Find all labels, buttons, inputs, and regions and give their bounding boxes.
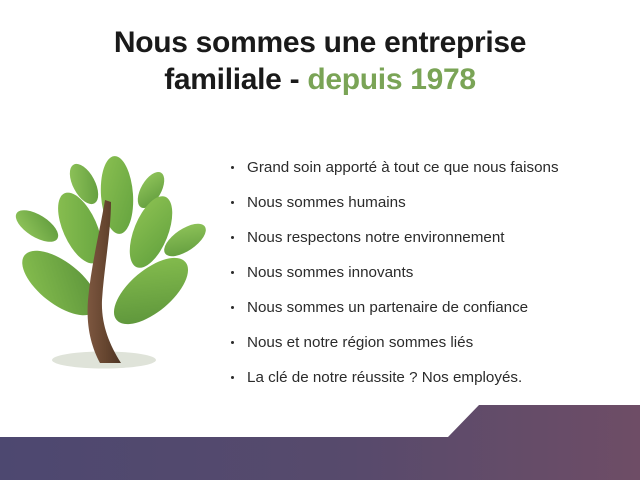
bullet-dot-icon <box>231 376 234 379</box>
list-item: La clé de notre réussite ? Nos employés. <box>228 360 628 395</box>
list-item: Nous sommes humains <box>228 185 628 220</box>
tree-illustration <box>8 148 218 390</box>
page-title: Nous sommes une entreprise familiale - d… <box>0 26 640 98</box>
list-item: Grand soin apporté à tout ce que nous fa… <box>228 150 628 185</box>
footer-bar: tabor-automobiles.fr <box>0 398 640 480</box>
title-accent: depuis 1978 <box>307 63 475 96</box>
bullet-dot-icon <box>231 341 234 344</box>
list-item: Nous sommes innovants <box>228 255 628 290</box>
list-item: Nous respectons notre environnement <box>228 220 628 255</box>
bullet-dot-icon <box>231 271 234 274</box>
list-item-label: La clé de notre réussite ? Nos employés. <box>247 369 522 386</box>
bullet-dot-icon <box>231 306 234 309</box>
tree-leaves <box>11 155 211 336</box>
list-item-label: Nous respectons notre environnement <box>247 229 505 246</box>
title-dash: - <box>282 63 308 96</box>
list-item-label: Nous sommes innovants <box>247 264 413 281</box>
tree-illustration-svg <box>8 148 218 390</box>
bullet-dot-icon <box>231 166 234 169</box>
bullet-dot-icon <box>231 201 234 204</box>
title-line-1: Nous sommes une entreprise <box>0 26 640 61</box>
title-line-2: familiale - depuis 1978 <box>0 63 640 98</box>
value-bullet-list: Grand soin apporté à tout ce que nous fa… <box>228 150 628 395</box>
list-item-label: Nous et notre région sommes liés <box>247 334 473 351</box>
list-item-label: Grand soin apporté à tout ce que nous fa… <box>247 159 559 176</box>
title-line-2-prefix: familiale <box>164 63 281 96</box>
list-item-label: Nous sommes humains <box>247 194 406 211</box>
list-item: Nous sommes un partenaire de confiance <box>228 290 628 325</box>
slide-canvas: Nous sommes une entreprise familiale - d… <box>0 0 640 480</box>
list-item-label: Nous sommes un partenaire de confiance <box>247 299 528 316</box>
footer-shape <box>0 398 640 480</box>
list-item: Nous et notre région sommes liés <box>228 325 628 360</box>
bullet-dot-icon <box>231 236 234 239</box>
